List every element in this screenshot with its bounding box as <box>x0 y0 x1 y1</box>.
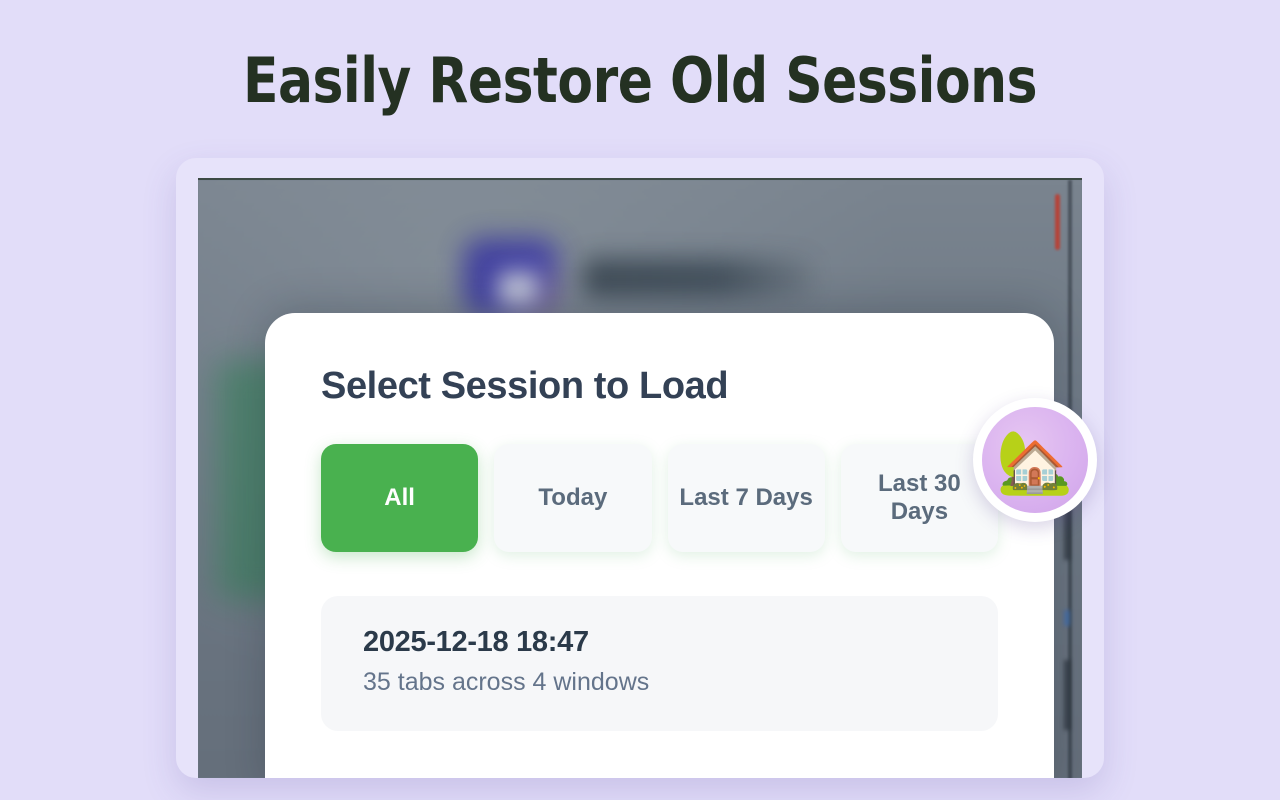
session-summary: 35 tabs across 4 windows <box>363 668 956 697</box>
background-logo-inner-icon <box>498 272 538 306</box>
filter-button-last-7-days[interactable]: Last 7 Days <box>668 444 825 552</box>
session-timestamp: 2025-12-18 18:47 <box>363 626 956 659</box>
select-session-modal: Select Session to Load All Today Last 7 … <box>265 313 1054 778</box>
scrollbar-marker-b <box>1064 610 1070 626</box>
device-frame: Select Session to Load All Today Last 7 … <box>176 158 1104 778</box>
page-title: Easily Restore Old Sessions <box>45 44 1235 117</box>
modal-title: Select Session to Load <box>321 365 998 408</box>
scrollbar-marker-red <box>1055 194 1060 250</box>
avatar[interactable]: 🏡 <box>973 398 1097 522</box>
filter-button-group: All Today Last 7 Days Last 30 Days <box>321 444 998 552</box>
house-with-hearts-icon: 🏡 <box>996 432 1073 494</box>
filter-button-all[interactable]: All <box>321 444 478 552</box>
filter-button-today[interactable]: Today <box>494 444 651 552</box>
screenshot-viewport: Select Session to Load All Today Last 7 … <box>198 178 1082 778</box>
background-title-text <box>583 258 813 298</box>
session-list-item[interactable]: 2025-12-18 18:47 35 tabs across 4 window… <box>321 596 998 731</box>
avatar-background: 🏡 <box>982 407 1088 513</box>
scrollbar-marker-c <box>1064 660 1070 730</box>
